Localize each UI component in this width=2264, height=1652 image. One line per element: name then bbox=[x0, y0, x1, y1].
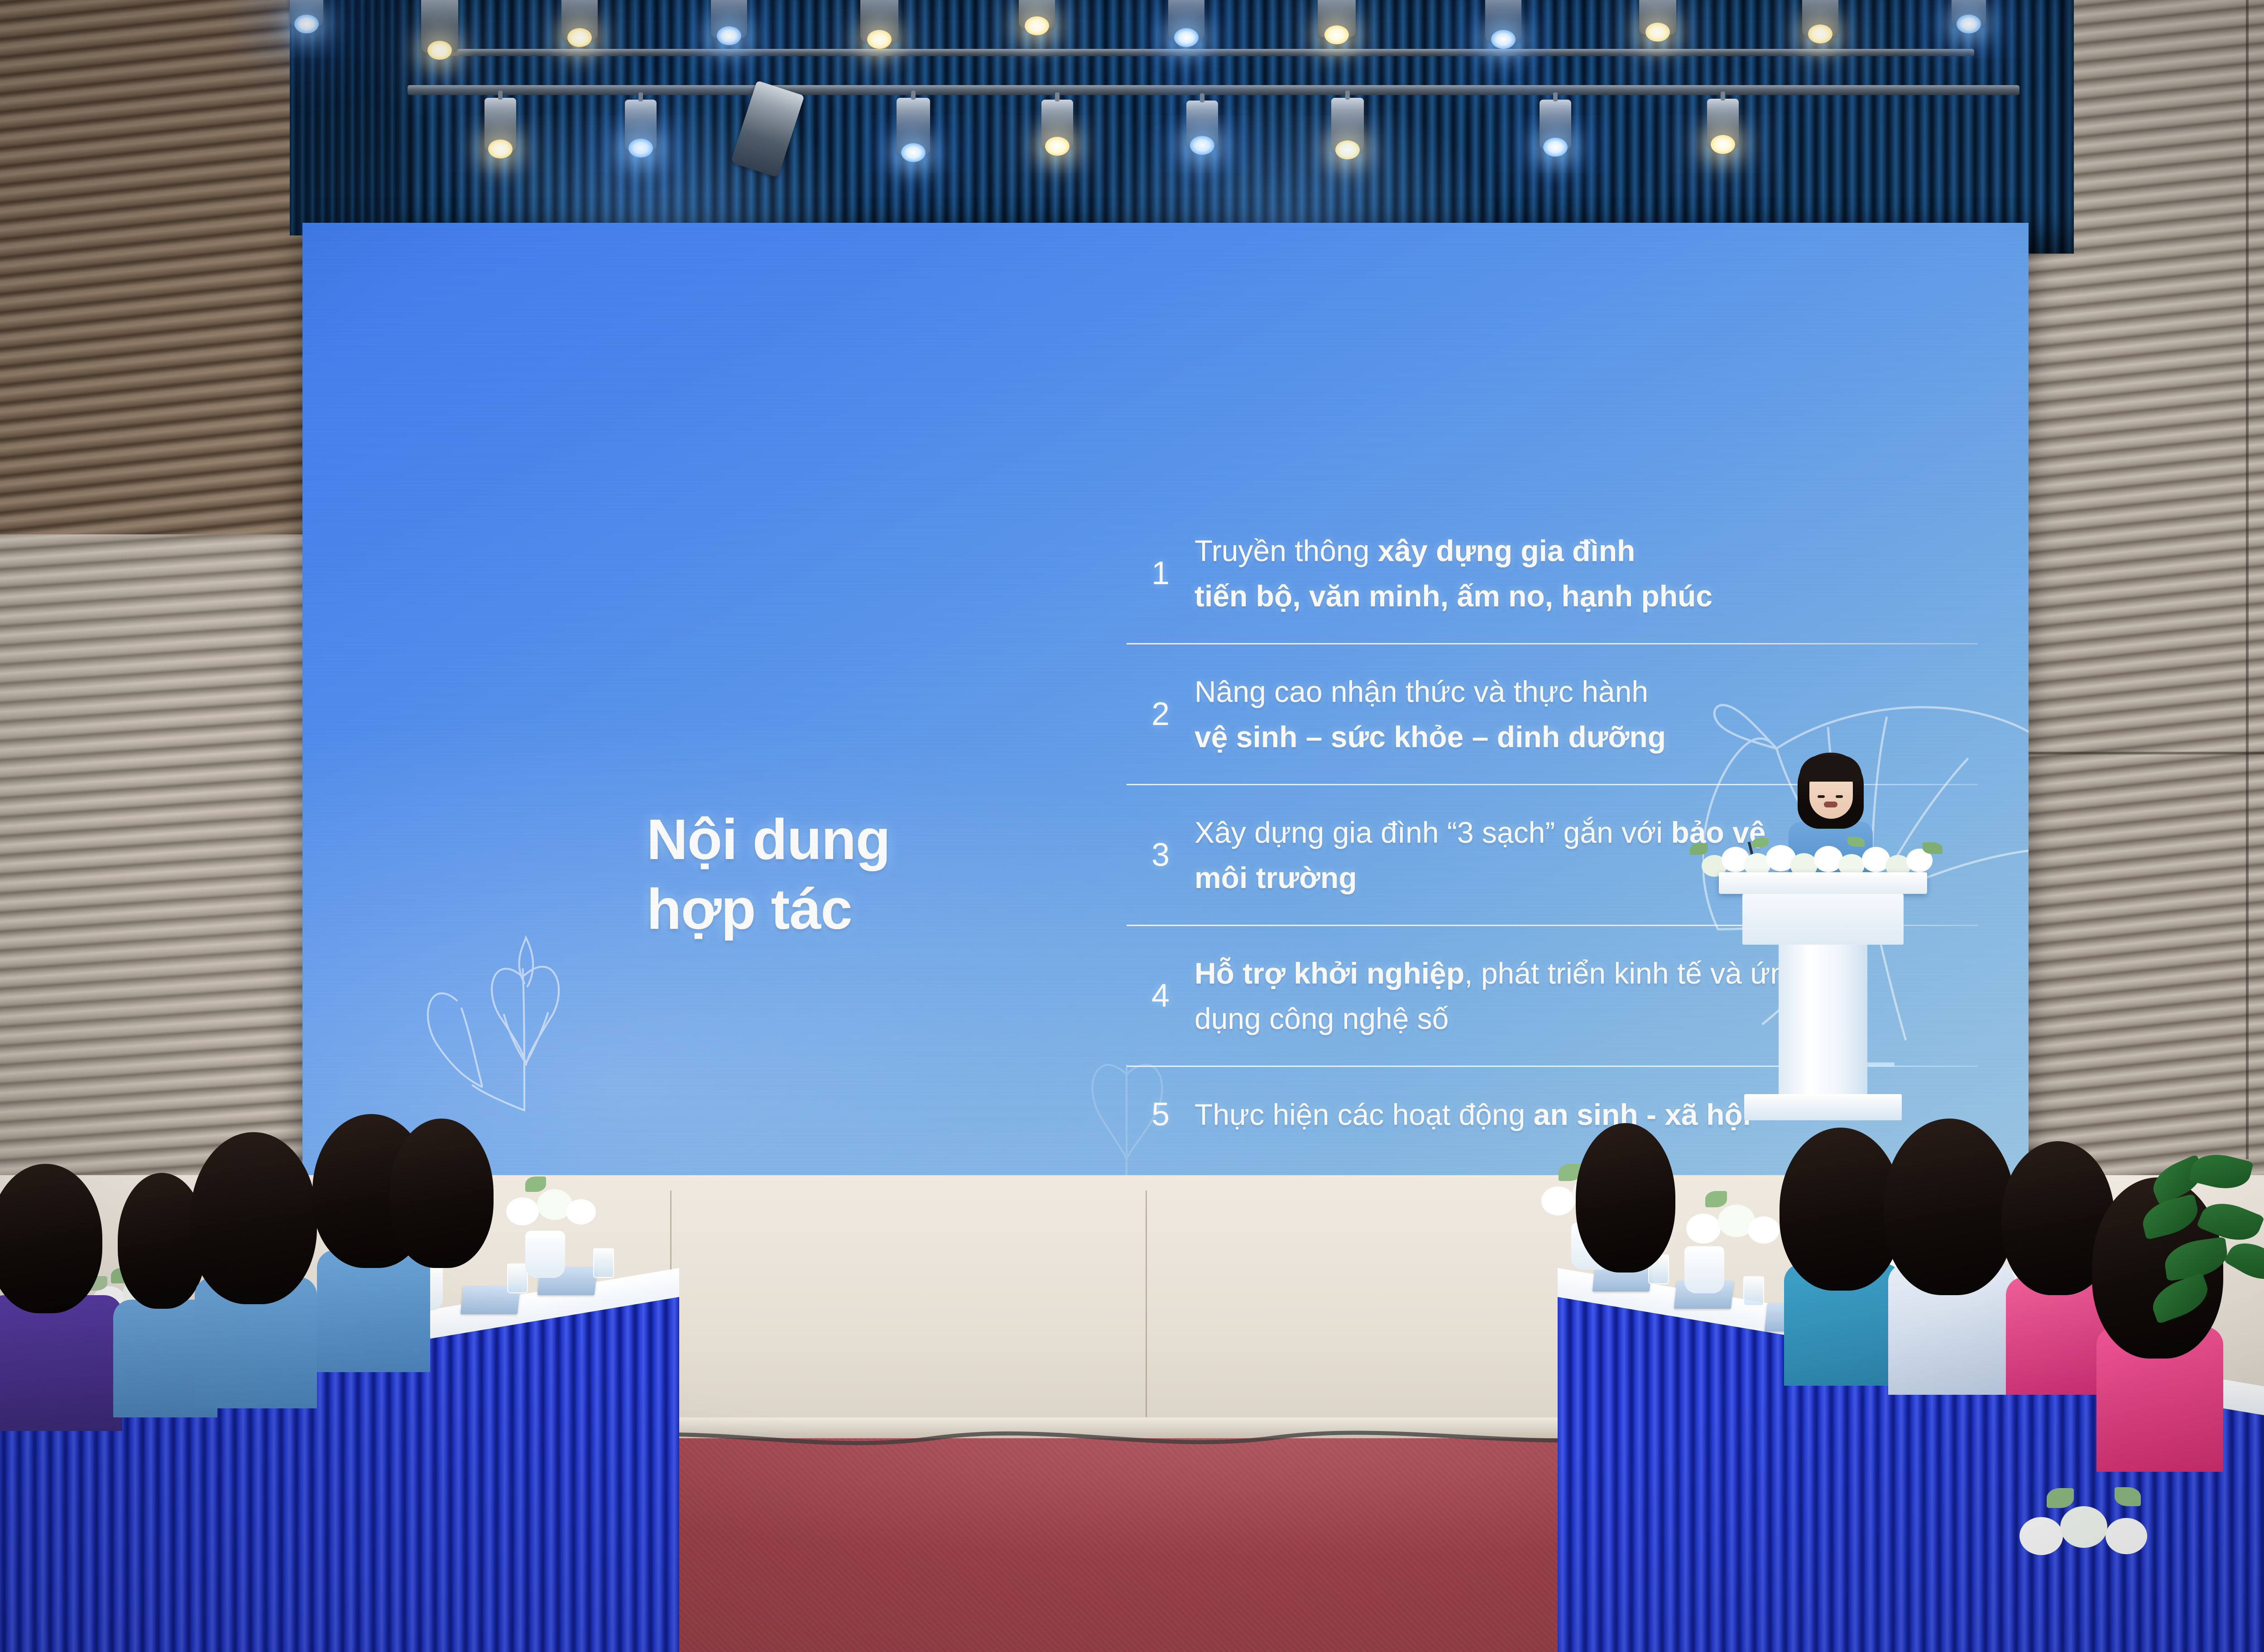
podium-front-panel: U ◉ bbox=[1742, 894, 1904, 945]
podium-column bbox=[1779, 945, 1867, 1094]
stage-light-fixture bbox=[860, 0, 898, 42]
potted-plant bbox=[2124, 1150, 2264, 1363]
stage-light-fixture bbox=[1168, 0, 1204, 40]
item-number-5: 5 bbox=[1127, 1096, 1194, 1133]
stage-light-fixture bbox=[1707, 99, 1739, 147]
stage-light-fixture bbox=[1186, 101, 1218, 148]
stage-light-fixture bbox=[625, 100, 657, 150]
speaker-eye-right bbox=[1836, 795, 1843, 798]
stage-light-fixture bbox=[1802, 0, 1838, 36]
stage-light-fixture bbox=[1318, 0, 1356, 37]
wall-seam bbox=[2246, 0, 2249, 1159]
slide-list-item-1: 1 Truyền thông xây dựng gia đình tiến bộ… bbox=[1127, 504, 1996, 643]
speaker-mouth bbox=[1824, 802, 1837, 807]
item-1-line-1-normal: Truyền thông bbox=[1194, 534, 1378, 567]
item-number-4: 4 bbox=[1127, 977, 1194, 1014]
stage-light-fixture bbox=[484, 98, 516, 151]
slide-title-line-2: hợp tác bbox=[647, 874, 1145, 944]
item-number-1: 1 bbox=[1127, 555, 1194, 592]
flower-bouquet bbox=[494, 1159, 629, 1245]
item-5-line-1-normal: Thực hiện các hoạt động bbox=[1194, 1098, 1534, 1131]
item-4-line-2-normal: dụng công nghệ số bbox=[1194, 1002, 1449, 1035]
wall-seam bbox=[2001, 752, 2264, 754]
stage-light-fixture bbox=[1540, 100, 1571, 149]
item-3-line-1-normal: Xây dựng gia đình “3 sạch” gắn với bbox=[1194, 816, 1671, 849]
podium-top bbox=[1719, 872, 1927, 894]
item-4-line-1-bold: Hỗ trợ khởi nghiệp bbox=[1194, 956, 1464, 990]
stage-panel-seam bbox=[1146, 1191, 1147, 1417]
water-glass bbox=[1743, 1276, 1764, 1306]
stage-light-fixture bbox=[1041, 100, 1073, 149]
lotus-flower-icon bbox=[407, 848, 642, 1138]
slide-title-line-1: Nội dung bbox=[647, 805, 1145, 874]
podium-base bbox=[1744, 1094, 1902, 1120]
stage-light-fixture bbox=[290, 0, 323, 26]
water-glass bbox=[593, 1248, 614, 1278]
item-number-3: 3 bbox=[1127, 836, 1194, 874]
stage-light-fixture bbox=[897, 98, 930, 155]
water-glass bbox=[507, 1263, 528, 1293]
flower-bouquet bbox=[2001, 1467, 2192, 1585]
stage-curtain-side bbox=[290, 0, 417, 235]
stage-light-fixture bbox=[1331, 98, 1364, 152]
attendee bbox=[1576, 1123, 1680, 1318]
item-1-line-1-bold: xây dựng gia đình bbox=[1378, 534, 1636, 567]
slide-title: Nội dung hợp tác bbox=[647, 805, 1145, 944]
attendee bbox=[389, 1119, 498, 1354]
item-number-2: 2 bbox=[1127, 696, 1194, 733]
item-text-2: Nâng cao nhận thức và thực hành vệ sinh … bbox=[1194, 669, 1996, 760]
lighting-truss-bar bbox=[435, 49, 1974, 56]
conference-hall-scene: Nội dung hợp tác 1 Truyền thông xây dựng… bbox=[0, 0, 2264, 1652]
stage-light-fixture bbox=[1639, 0, 1676, 34]
stage-light-fixture bbox=[1485, 0, 1521, 42]
attendee bbox=[190, 1132, 321, 1404]
attendee bbox=[1884, 1119, 2019, 1390]
item-2-line-1-normal: Nâng cao nhận thức và thực hành bbox=[1194, 675, 1648, 708]
item-2-line-2-bold: vệ sinh – sức khỏe – dinh dưỡng bbox=[1194, 720, 1666, 754]
item-1-line-2-bold: tiến bộ, văn minh, ấm no, hạnh phúc bbox=[1194, 579, 1712, 613]
item-3-line-2-bold: môi trường bbox=[1194, 861, 1357, 894]
stage-light-fixture bbox=[1952, 0, 1986, 26]
floor-cable bbox=[589, 1413, 1675, 1463]
stage-light-fixture bbox=[1019, 0, 1055, 28]
stage-light-fixture bbox=[421, 0, 458, 53]
lighting-truss-bar bbox=[408, 85, 2019, 95]
speaker-eye-left bbox=[1818, 795, 1825, 798]
speaker-fringe bbox=[1799, 755, 1862, 782]
attendee bbox=[0, 1164, 122, 1417]
item-text-1: Truyền thông xây dựng gia đình tiến bộ, … bbox=[1194, 528, 1996, 619]
stage-light-fixture bbox=[561, 0, 598, 40]
stage-light-fixture bbox=[711, 0, 747, 38]
